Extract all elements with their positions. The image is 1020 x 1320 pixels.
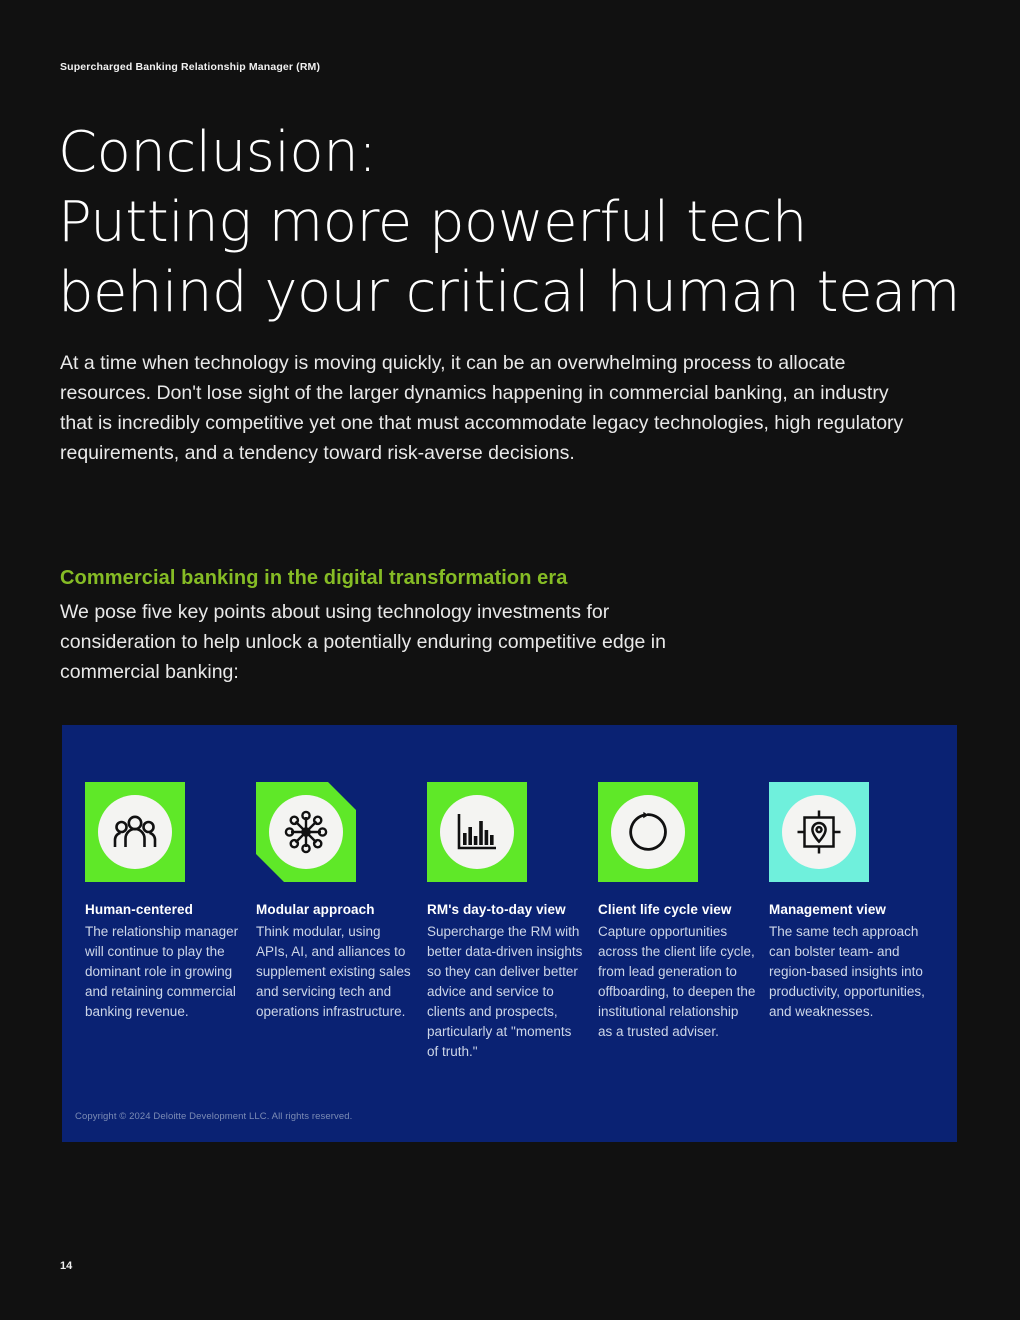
card-body: Supercharge the RM with better data-driv… bbox=[427, 922, 585, 1062]
card-body: The same tech approach can bolster team-… bbox=[769, 922, 927, 1022]
network-hub-icon bbox=[284, 810, 328, 854]
document-page: Supercharged Banking Relationship Manage… bbox=[0, 0, 1020, 1320]
running-header: Supercharged Banking Relationship Manage… bbox=[60, 61, 320, 73]
bar-chart-icon bbox=[455, 811, 499, 853]
icon-tile bbox=[427, 782, 527, 882]
icon-disc bbox=[98, 795, 172, 869]
card-title: Modular approach bbox=[256, 901, 414, 918]
card-body: Think modular, using APIs, AI, and allia… bbox=[256, 922, 414, 1022]
copyright-notice: Copyright © 2024 Deloitte Development LL… bbox=[75, 1111, 352, 1122]
card-title: Management view bbox=[769, 901, 927, 918]
key-points-card-list: Human-centered The relationship manager … bbox=[85, 782, 940, 1062]
icon-disc bbox=[269, 795, 343, 869]
icon-disc bbox=[782, 795, 856, 869]
key-point-card: Management view The same tech approach c… bbox=[769, 782, 940, 1062]
section-heading: Commercial banking in the digital transf… bbox=[60, 567, 568, 590]
icon-tile bbox=[598, 782, 698, 882]
section-subtext: We pose five key points about using tech… bbox=[60, 597, 700, 687]
card-title: RM's day-to-day view bbox=[427, 901, 585, 918]
key-points-panel: Human-centered The relationship manager … bbox=[62, 725, 957, 1142]
card-title: Client life cycle view bbox=[598, 901, 756, 918]
group-people-icon bbox=[112, 814, 158, 850]
intro-paragraph: At a time when technology is moving quic… bbox=[60, 348, 920, 468]
icon-disc bbox=[440, 795, 514, 869]
key-point-card: Client life cycle view Capture opportuni… bbox=[598, 782, 769, 1062]
key-point-card: Human-centered The relationship manager … bbox=[85, 782, 256, 1062]
icon-tile bbox=[769, 782, 869, 882]
location-target-icon bbox=[796, 809, 842, 855]
key-point-card: Modular approach Think modular, using AP… bbox=[256, 782, 427, 1062]
page-number: 14 bbox=[60, 1260, 72, 1272]
title-line-3: behind your critical human team bbox=[58, 258, 958, 328]
card-body: The relationship manager will continue t… bbox=[85, 922, 243, 1022]
title-line-1: Conclusion: bbox=[58, 118, 958, 188]
card-title: Human-centered bbox=[85, 901, 243, 918]
icon-tile bbox=[256, 782, 356, 882]
icon-disc bbox=[611, 795, 685, 869]
key-point-card: RM's day-to-day view Supercharge the RM … bbox=[427, 782, 598, 1062]
page-title: Conclusion: Putting more powerful tech b… bbox=[58, 118, 958, 328]
title-line-2: Putting more powerful tech bbox=[58, 188, 958, 258]
icon-tile bbox=[85, 782, 185, 882]
card-body: Capture opportunities across the client … bbox=[598, 922, 756, 1042]
cycle-circle-icon bbox=[627, 811, 669, 853]
